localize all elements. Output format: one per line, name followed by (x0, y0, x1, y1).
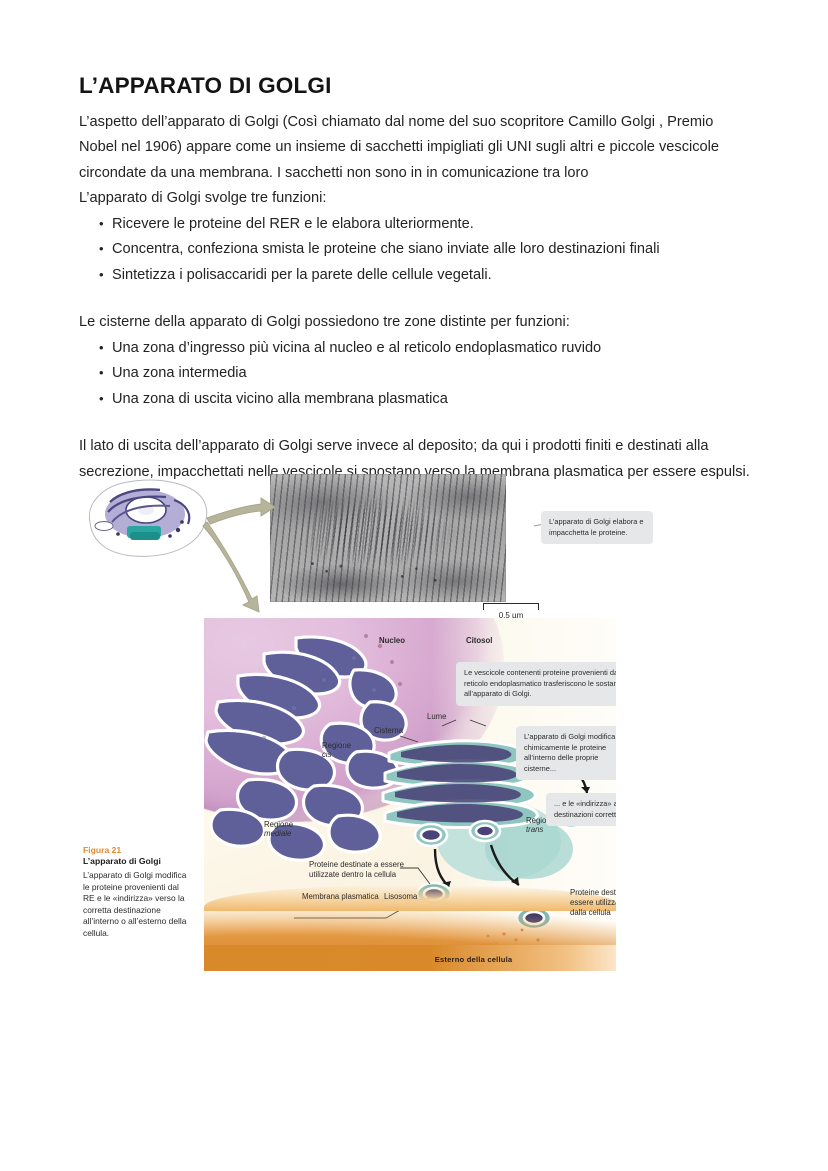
label-regione-cis-title: Regione (322, 741, 351, 750)
exterior-label: Esterno della cellula (435, 955, 513, 964)
label-proteine-fuori: Proteine destinate a essere utilizzate f… (570, 888, 616, 918)
callout-modifica: L’apparato di Golgi modifica chimicament… (516, 726, 616, 780)
list-item: Concentra, confeziona smista le proteine… (99, 237, 751, 263)
label-proteine-dentro: Proteine destinate a essere utilizzate d… (309, 860, 427, 880)
callout-vescicole: Le vescicole contenenti proteine proveni… (456, 662, 616, 706)
page-title: L’APPARATO DI GOLGI (79, 74, 751, 99)
label-nucleo: Nucleo (379, 636, 405, 645)
label-regione-cis: Regione cis (322, 741, 351, 759)
label-cisterna: Cisterna (374, 726, 403, 735)
callout-micrograph: L’apparato di Golgi elabora e impacchett… (541, 511, 653, 544)
scale-bar-line (483, 603, 539, 610)
label-membrana-plasmatica: Membrana plasmatica (302, 892, 379, 902)
functions-lead: L’apparato di Golgi svolge tre funzioni: (79, 186, 751, 212)
article-text: L’APPARATO DI GOLGI L’aspetto dell’appar… (79, 74, 751, 485)
golgi-illustration-panel: Esterno della cellula Nucleo Citosol Lum… (204, 618, 616, 971)
figure-21: L’apparato di Golgi elabora e impacchett… (79, 466, 751, 978)
label-regione-trans-sub: trans (526, 825, 555, 834)
figure-caption: Figura 21 L’apparato di Golgi L’apparato… (83, 845, 191, 940)
label-regione-cis-sub: cis (322, 750, 351, 759)
document-page: L’APPARATO DI GOLGI L’aspetto dell’appar… (0, 0, 828, 1171)
figure-body: L’apparato di Golgi modifica le proteine… (83, 870, 191, 940)
zones-lead: Le cisterne della apparato di Golgi poss… (79, 310, 751, 336)
figure-number: Figura 21 (83, 845, 191, 855)
label-regione-mediale-title: Regione (264, 820, 293, 829)
list-item: Ricevere le proteine del RER e le elabor… (99, 212, 751, 238)
list-item: Una zona d’ingresso più vicina al nucleo… (99, 336, 751, 362)
list-item: Una zona intermedia (99, 361, 751, 387)
exterior-banner (204, 945, 616, 971)
label-regione-mediale-sub: mediale (264, 829, 293, 838)
figure-heading: L’apparato di Golgi (83, 856, 191, 866)
list-item: Sintetizza i polisaccaridi per la parete… (99, 263, 751, 289)
list-item: Una zona di uscita vicino alla membrana … (99, 387, 751, 413)
label-lisosoma: Lisosoma (384, 892, 417, 901)
label-lume: Lume (427, 712, 447, 721)
intro-paragraph: L’aspetto dell’apparato di Golgi (Così c… (79, 110, 751, 187)
label-citosol: Citosol (466, 636, 492, 645)
cell-diagram-icon (82, 474, 212, 564)
micrograph-grain (270, 474, 506, 602)
electron-micrograph (270, 474, 506, 602)
callout-indirizza: ... e le «indirizza» alle destinazioni c… (546, 793, 616, 826)
zones-list: Una zona d’ingresso più vicina al nucleo… (79, 336, 751, 413)
functions-list: Ricevere le proteine del RER e le elabor… (79, 212, 751, 289)
label-regione-mediale: Regione mediale (264, 820, 293, 838)
